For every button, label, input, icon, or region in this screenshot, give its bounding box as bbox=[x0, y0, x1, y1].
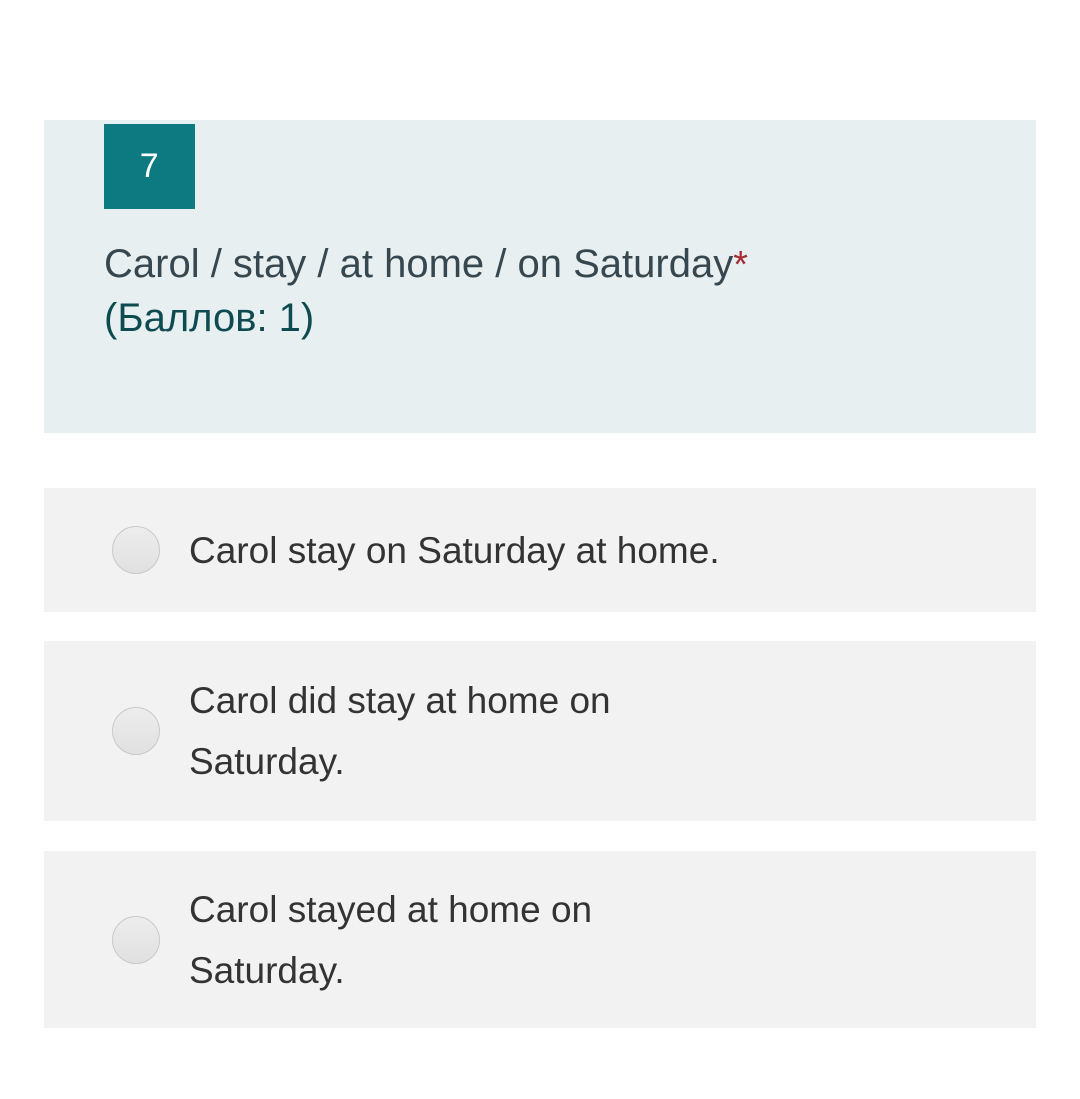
radio-button-icon[interactable] bbox=[112, 526, 160, 574]
question-points-label: (Баллов: 1) bbox=[104, 292, 1004, 345]
required-asterisk-icon: * bbox=[733, 244, 748, 286]
answer-option-3[interactable]: Carol stayed at home on Saturday. bbox=[44, 851, 1036, 1028]
answer-option-label: Carol did stay at home on Saturday. bbox=[189, 670, 749, 792]
answer-option-2[interactable]: Carol did stay at home on Saturday. bbox=[44, 641, 1036, 821]
answer-option-label: Carol stay on Saturday at home. bbox=[189, 520, 996, 581]
question-prompt-text: Carol / stay / at home / on Saturday bbox=[104, 242, 733, 286]
answer-option-1[interactable]: Carol stay on Saturday at home. bbox=[44, 488, 1036, 612]
question-prompt: Carol / stay / at home / on Saturday* (Б… bbox=[104, 238, 1004, 345]
question-card: 7 Carol / stay / at home / on Saturday* … bbox=[44, 120, 1036, 433]
radio-button-icon[interactable] bbox=[112, 707, 160, 755]
quiz-question-page: 7 Carol / stay / at home / on Saturday* … bbox=[0, 0, 1080, 1099]
question-number-badge: 7 bbox=[104, 124, 195, 209]
answer-option-label: Carol stayed at home on Saturday. bbox=[189, 879, 749, 1001]
radio-button-icon[interactable] bbox=[112, 916, 160, 964]
